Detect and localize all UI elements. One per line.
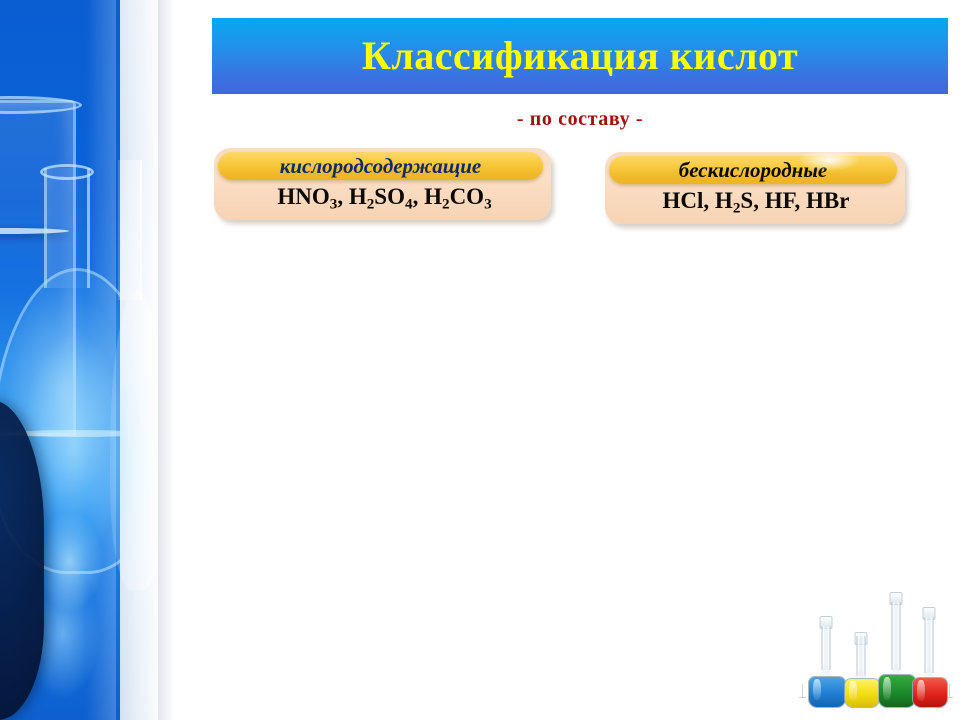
category-header-label: кислородсодержащие <box>280 156 482 177</box>
category-card-oxygen-containing: кислородсодержащие HNO3, H2SO4, H2CO3 <box>214 148 551 220</box>
measure-tick-left <box>802 684 803 698</box>
laboratory-glassware-photo <box>0 0 120 720</box>
faded-flask-bulb-icon <box>110 290 164 590</box>
photo-highlight <box>86 0 116 720</box>
photo-fade-strip <box>120 0 158 720</box>
flask-gloss <box>883 677 891 700</box>
photo-edge-shadow <box>158 0 174 720</box>
flask-gloss <box>849 681 856 701</box>
slide-title-bar: Классификация кислот <box>212 18 948 94</box>
measure-tick-right <box>949 684 950 698</box>
page-title: Классификация кислот <box>362 36 798 76</box>
volumetric-flasks-artwork <box>800 585 952 720</box>
flask-neck-icon <box>925 617 934 673</box>
category-formula-oxygen-containing: HNO3, H2SO4, H2CO3 <box>214 185 551 212</box>
flask-bulb-icon <box>808 676 846 708</box>
yellow-flask-icon <box>844 632 878 708</box>
flask-gloss <box>813 679 821 701</box>
blue-flask-icon <box>808 616 844 708</box>
flask-bulb-icon <box>912 677 948 708</box>
category-header-label: бескислородные <box>679 160 827 181</box>
flask-neck-icon <box>892 602 901 670</box>
faded-flask-neck-icon <box>118 160 142 300</box>
red-flask-icon <box>912 607 946 708</box>
flask-bulb-icon <box>844 678 880 708</box>
category-header-oxygen-containing: кислородсодержащие <box>218 152 543 180</box>
flask-bulb-icon <box>878 674 916 708</box>
slide-subtitle: - по составу - <box>212 108 948 131</box>
category-card-anoxic: бескислородные HCl, H2S, HF, HBr <box>605 152 905 224</box>
category-header-anoxic: бескислородные <box>609 156 897 184</box>
category-formula-anoxic: HCl, H2S, HF, HBr <box>605 189 905 216</box>
presentation-slide: Классификация кислот - по составу - кисл… <box>0 0 960 720</box>
flask-gloss <box>917 680 924 701</box>
green-flask-icon <box>878 592 914 708</box>
